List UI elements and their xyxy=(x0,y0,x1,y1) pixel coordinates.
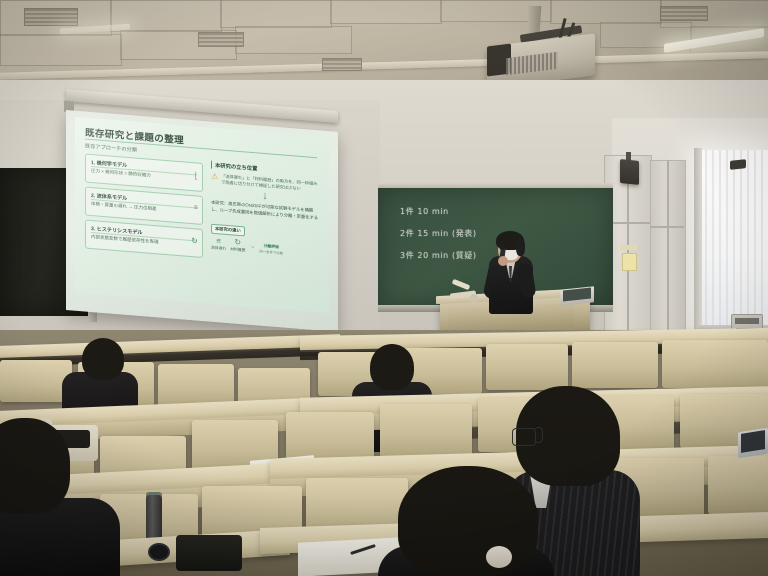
audience-left-head xyxy=(82,338,124,380)
laptop-screen xyxy=(741,430,765,453)
presenter-hair xyxy=(516,238,525,256)
ceiling-tile xyxy=(550,0,662,24)
ceiling-tile xyxy=(330,0,442,24)
wristwatch xyxy=(148,543,170,561)
cabinet-label xyxy=(620,245,637,250)
slide-right-column: 本研究の立ち位置 ⚠ 「流体遅れ」と「材料履歴」の両方を、同一枠組みで両者に切り… xyxy=(211,161,319,260)
cabinet-sticker xyxy=(622,253,637,271)
hair-scrunchie xyxy=(486,546,512,568)
projection-screen: 既存研究と課題の整理 既存アプローチの分類 1. 幾何学モデル 圧力 × 幾何形… xyxy=(66,110,338,332)
projected-slide: 既存研究と課題の整理 既存アプローチの分類 1. 幾何学モデル 圧力 × 幾何形… xyxy=(75,117,329,313)
lectern-lamp[interactable] xyxy=(450,278,480,298)
lamp-joint xyxy=(470,294,478,302)
seat-back xyxy=(662,340,768,388)
water-bottle[interactable] xyxy=(146,495,162,541)
window-frame xyxy=(694,148,702,330)
difference-badge: 本研究の違い xyxy=(211,224,245,237)
wall-speaker xyxy=(730,159,746,170)
eyeglasses xyxy=(534,427,543,443)
bar-chart-icon: ⌊ xyxy=(194,171,198,180)
seat-back xyxy=(572,342,658,388)
approach-card-2: 2. 流体系モデル 体積・質量の遅れ → 圧力位相差 ≡ xyxy=(85,187,203,225)
lecture-hall-photo: 1件 10 min 2件 15 min (発表) 3件 20 min (質疑) … xyxy=(0,0,768,576)
summary-item-sublabel: 同一条件で比較 xyxy=(259,248,283,255)
audience-front-head xyxy=(398,466,538,576)
summary-item-fluid: ≡ 流体遅れ xyxy=(211,237,226,252)
slide-left-column: 1. 幾何学モデル 圧力 × 幾何形状 = 静的収縮力 ⌊ 2. 流体系モデル … xyxy=(85,154,203,262)
summary-item-material: ↻ 材料履歴 xyxy=(230,238,245,253)
slide-subtitle: 既存アプローチの分類 xyxy=(85,143,137,154)
ceiling-vent xyxy=(660,6,708,21)
chalk-line: 3件 20 min (質疑) xyxy=(400,250,477,261)
seat-back xyxy=(708,456,768,514)
presenter-hand xyxy=(498,256,508,266)
summary-item-label: 流体遅れ xyxy=(211,246,226,252)
pencil-case[interactable] xyxy=(176,535,242,571)
eyeglasses xyxy=(512,428,536,446)
flow-lines-icon: ≡ xyxy=(211,237,226,246)
audience-center-head xyxy=(370,344,414,390)
audience-foreground-left-head xyxy=(0,418,70,514)
seat-back xyxy=(486,344,568,390)
loop-arrow-icon: ↻ xyxy=(230,238,245,247)
microphone-head xyxy=(499,243,506,250)
approach-card-1: 1. 幾何学モデル 圧力 × 幾何形状 = 静的収縮力 ⌊ xyxy=(85,154,203,192)
summary-item-label: 材料履歴 xyxy=(230,247,245,253)
ceiling-tile xyxy=(235,26,352,54)
ceiling-vent xyxy=(198,32,244,47)
loop-arrow-icon: ↻ xyxy=(191,237,198,246)
ceiling-tile xyxy=(0,34,122,66)
chalk-line: 1件 10 min xyxy=(400,206,449,217)
seat-back xyxy=(380,404,472,458)
approach-card-3: 3. ヒステリシスモデル 内部状態変数で履歴依存性を表現 ↻ xyxy=(85,220,203,258)
window-blinds xyxy=(700,150,768,328)
wall-speaker xyxy=(620,159,639,185)
lamp-arm xyxy=(452,279,471,290)
summary-item-result: 分離評価 同一条件で比較 xyxy=(259,242,283,255)
chalk-line: 2件 15 min (発表) xyxy=(400,228,477,239)
arrow-right-icon: → xyxy=(249,244,255,250)
panel-display xyxy=(735,318,759,324)
ceiling-tile xyxy=(220,0,332,28)
ceiling-vent xyxy=(322,58,362,71)
ceiling-vent xyxy=(24,8,78,26)
summary-icon-row: ≡ 流体遅れ ↻ 材料履歴 → 分離評価 同一条件で比較 xyxy=(211,237,319,260)
warning-triangle-icon: ⚠ xyxy=(211,173,218,182)
flow-lines-icon: ≡ xyxy=(194,204,198,211)
